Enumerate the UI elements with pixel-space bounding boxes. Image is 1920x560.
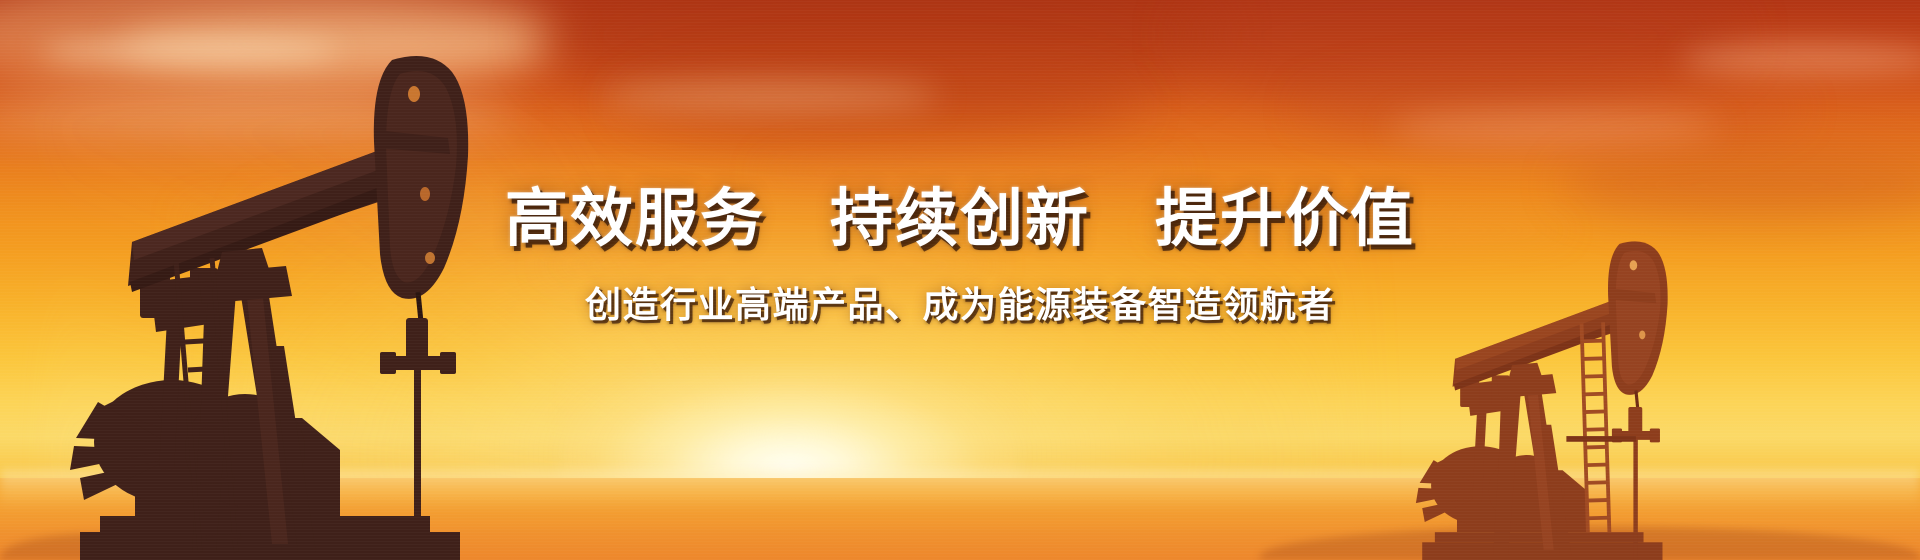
ladder <box>1582 322 1611 532</box>
pumpjack-right <box>1390 235 1720 560</box>
hero-banner: 高效服务 持续创新 提升价值 创造行业高端产品、成为能源装备智造领航者 <box>0 0 1920 560</box>
pumpjack-left <box>40 46 540 560</box>
